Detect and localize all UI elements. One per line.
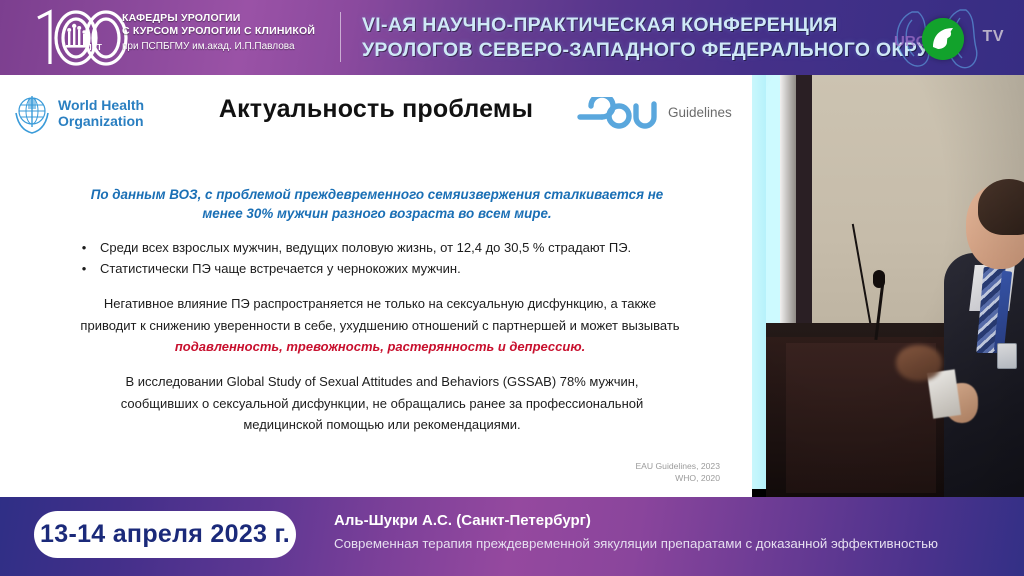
conference-title-line-1: VI-АЯ НАУЧНО-ПРАКТИЧЕСКАЯ КОНФЕРЕНЦИЯ (362, 13, 882, 38)
lead-line-2: 30% мужчин разного возраста во всем мире… (246, 206, 551, 221)
presentation-slide: World Health Organization Актуальность п… (0, 75, 752, 497)
reference-eau: EAU Guidelines, 2023 (452, 460, 720, 472)
bullet-marker: • (68, 258, 100, 279)
conference-date-label: 13-14 апреля 2023 г. (40, 520, 290, 549)
lower-third-bar: 13-14 апреля 2023 г. Аль-Шукри А.С. (Сан… (0, 497, 1024, 576)
eau-guidelines-label: Guidelines (668, 105, 732, 120)
conference-title-block: VI-АЯ НАУЧНО-ПРАКТИЧЕСКАЯ КОНФЕРЕНЦИЯ УР… (362, 13, 882, 63)
conference-header-banner: ЛЕТ КАФЕДРЫ УРОЛОГИИ С КУРСОМ УРОЛОГИИ С… (0, 0, 1024, 75)
urotv-channel-logo: URO TV (882, 0, 1014, 75)
anniversary-100-years-icon: ЛЕТ (24, 6, 136, 70)
urotv-tv-label: TV (983, 28, 1004, 46)
department-line-3: при ПСПБГМУ им.акад. И.П.Павлова (122, 40, 332, 54)
gssab-study-paragraph: В исследовании Global Study of Sexual At… (92, 371, 672, 436)
impact-paragraph-plain: Негативное влияние ПЭ распространяется н… (80, 296, 679, 333)
bullet-marker: • (68, 237, 100, 258)
talk-title: Современная терапия преждевременной эяку… (334, 533, 1022, 555)
conference-title-line-2: УРОЛОГОВ СЕВЕРО-ЗАПАДНОГО ФЕДЕРАЛЬНОГО О… (362, 38, 882, 63)
list-item: • Статистически ПЭ чаще встречается у че… (68, 258, 708, 279)
conference-date-badge: 13-14 апреля 2023 г. (34, 511, 296, 558)
slide-right-edge-strip (752, 75, 766, 489)
bullet-list: • Среди всех взрослых мужчин, ведущих по… (68, 237, 708, 279)
slide-references: EAU Guidelines, 2023 WHO, 2020 (452, 460, 720, 484)
department-line-1: КАФЕДРЫ УРОЛОГИИ (122, 12, 332, 25)
list-item-label: Среди всех взрослых мужчин, ведущих поло… (100, 237, 631, 258)
speaker-video-feed[interactable] (766, 75, 1024, 510)
eau-guidelines-logo: Guidelines (574, 97, 744, 131)
speaker-name: Аль-Шукри А.С. (Санкт-Петербург) (334, 509, 1022, 533)
svg-text:ЛЕТ: ЛЕТ (86, 43, 102, 52)
speaker-info-block: Аль-Шукри А.С. (Санкт-Петербург) Совреме… (334, 509, 1022, 555)
video-vignette (766, 75, 1024, 510)
header-divider (340, 12, 341, 62)
impact-paragraph-highlight: подавленность, тревожность, растерянност… (175, 339, 585, 354)
reference-who: WHO, 2020 (452, 472, 720, 484)
eau-logo-icon (574, 97, 662, 131)
department-line-2: С КУРСОМ УРОЛОГИИ С КЛИНИКОЙ (122, 25, 332, 38)
list-item-label: Статистически ПЭ чаще встречается у черн… (100, 258, 461, 279)
impact-paragraph: Негативное влияние ПЭ распространяется н… (80, 293, 680, 358)
list-item: • Среди всех взрослых мужчин, ведущих по… (68, 237, 708, 258)
lead-statement: По данным ВОЗ, с проблемой преждевременн… (72, 185, 682, 223)
urotv-green-badge-icon (922, 18, 964, 60)
department-name-block: КАФЕДРЫ УРОЛОГИИ С КУРСОМ УРОЛОГИИ С КЛИ… (122, 12, 332, 54)
broadcast-stage: ЛЕТ КАФЕДРЫ УРОЛОГИИ С КУРСОМ УРОЛОГИИ С… (0, 0, 1024, 576)
